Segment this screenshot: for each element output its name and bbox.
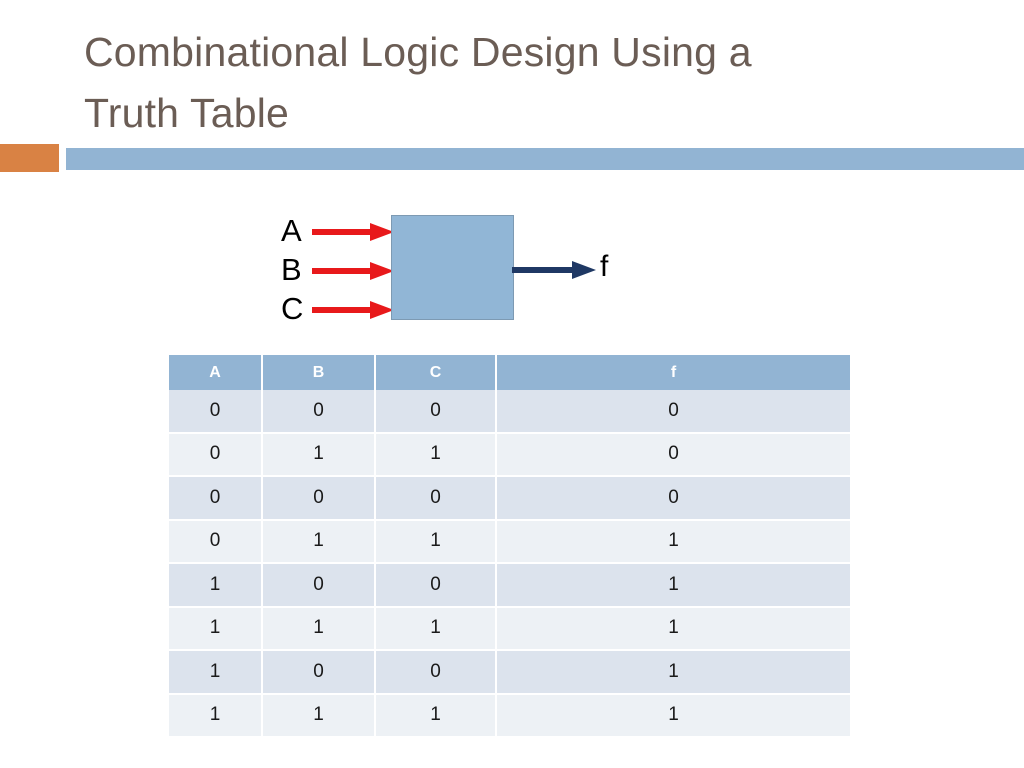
table-cell-c: 1 (376, 695, 497, 739)
table-cell-a: 1 (169, 695, 263, 739)
table-cell-f: 1 (497, 695, 850, 739)
table-row: 0110 (169, 434, 850, 478)
table-row: 0111 (169, 521, 850, 565)
table-cell-c: 1 (376, 521, 497, 565)
column-header-f: f (497, 355, 850, 390)
table-cell-b: 1 (263, 608, 376, 652)
table-cell-b: 1 (263, 521, 376, 565)
output-label-f: f (600, 252, 608, 282)
table-cell-a: 0 (169, 521, 263, 565)
input-arrow-c-icon (312, 298, 394, 322)
column-header-a: A (169, 355, 263, 390)
table-cell-a: 1 (169, 651, 263, 695)
table-cell-b: 0 (263, 651, 376, 695)
table-cell-f: 0 (497, 390, 850, 434)
table-cell-c: 1 (376, 434, 497, 478)
table-row: 1001 (169, 564, 850, 608)
table-cell-a: 1 (169, 608, 263, 652)
table-cell-f: 0 (497, 434, 850, 478)
table-cell-f: 0 (497, 477, 850, 521)
output-arrow-f-icon (512, 258, 596, 282)
table-row: 1111 (169, 695, 850, 739)
table-cell-b: 0 (263, 390, 376, 434)
truth-table-body: 00000110000001111001111110011111 (169, 390, 850, 738)
logic-block-diagram: A B C f (270, 200, 650, 345)
table-row: 0000 (169, 477, 850, 521)
table-cell-f: 1 (497, 651, 850, 695)
table-cell-f: 1 (497, 608, 850, 652)
column-header-c: C (376, 355, 497, 390)
page-title: Combinational Logic Design Using a Truth… (84, 22, 964, 143)
table-cell-a: 0 (169, 477, 263, 521)
table-row: 1111 (169, 608, 850, 652)
table-row: 0000 (169, 390, 850, 434)
table-row: 1001 (169, 651, 850, 695)
table-cell-b: 0 (263, 477, 376, 521)
table-cell-c: 0 (376, 477, 497, 521)
input-arrow-b-icon (312, 259, 394, 283)
table-cell-c: 0 (376, 390, 497, 434)
input-label-c: C (281, 293, 303, 324)
table-cell-b: 0 (263, 564, 376, 608)
table-cell-c: 0 (376, 564, 497, 608)
combinational-logic-block (391, 215, 514, 320)
table-cell-b: 1 (263, 434, 376, 478)
table-cell-a: 0 (169, 434, 263, 478)
input-label-a: A (281, 215, 302, 246)
table-cell-a: 0 (169, 390, 263, 434)
table-cell-c: 0 (376, 651, 497, 695)
table-cell-f: 1 (497, 564, 850, 608)
title-accent-bar-blue (66, 148, 1024, 170)
table-cell-c: 1 (376, 608, 497, 652)
input-label-b: B (281, 254, 302, 285)
table-cell-b: 1 (263, 695, 376, 739)
table-cell-a: 1 (169, 564, 263, 608)
table-cell-f: 1 (497, 521, 850, 565)
table-header-row: A B C f (169, 355, 850, 390)
input-arrow-a-icon (312, 220, 394, 244)
title-accent-bar-orange (0, 144, 59, 172)
truth-table: A B C f 00000110000001111001111110011111 (169, 355, 850, 738)
column-header-b: B (263, 355, 376, 390)
